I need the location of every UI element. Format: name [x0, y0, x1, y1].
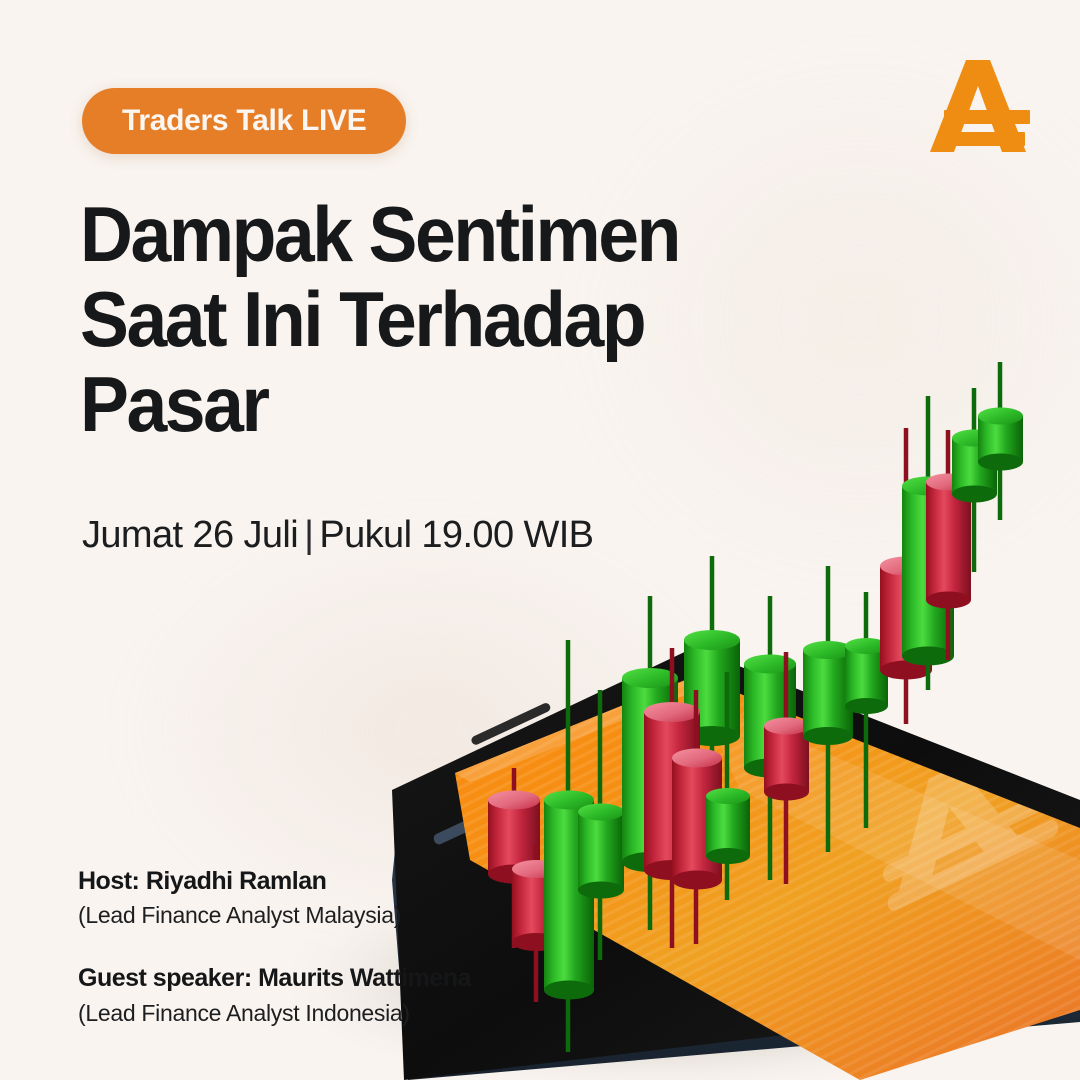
schedule-separator: | [298, 514, 319, 556]
promo-poster: Traders Talk LIVE Dampak Sentimen Saat I… [0, 0, 1080, 1080]
candle-13-up [845, 592, 888, 828]
guest-name: Guest speaker: Maurits Wattimena [78, 963, 471, 994]
candle-12-up [803, 566, 853, 852]
guest-block: Guest speaker: Maurits Wattimena (Lead F… [78, 963, 471, 1028]
host-name: Host: Riyadhi Ramlan [78, 866, 471, 897]
headline-line-2: Saat Ini Terhadap [80, 277, 794, 362]
schedule-time: Pukul 19.00 WIB [319, 514, 593, 556]
page-title: Dampak Sentimen Saat Ini Terhadap Pasar [80, 192, 794, 447]
guest-role: (Lead Finance Analyst Indonesia) [78, 998, 471, 1029]
headline-line-3: Pasar [80, 362, 794, 447]
schedule-line: Jumat 26 Juli|Pukul 19.00 WIB [82, 514, 593, 557]
candle-10-up [744, 596, 796, 880]
screen-watermark [872, 726, 1059, 914]
live-badge-label: Traders Talk LIVE [122, 104, 366, 138]
speaker-credits: Host: Riyadhi Ramlan (Lead Finance Analy… [78, 866, 471, 1029]
candle-11-down [764, 652, 809, 884]
host-block: Host: Riyadhi Ramlan (Lead Finance Analy… [78, 866, 471, 931]
brand-a-logo-icon [922, 52, 1034, 164]
headline-line-1: Dampak Sentimen [80, 192, 794, 277]
live-badge: Traders Talk LIVE [82, 88, 406, 154]
host-role: (Lead Finance Analyst Malaysia) [78, 900, 471, 931]
schedule-date: Jumat 26 Juli [82, 514, 298, 556]
